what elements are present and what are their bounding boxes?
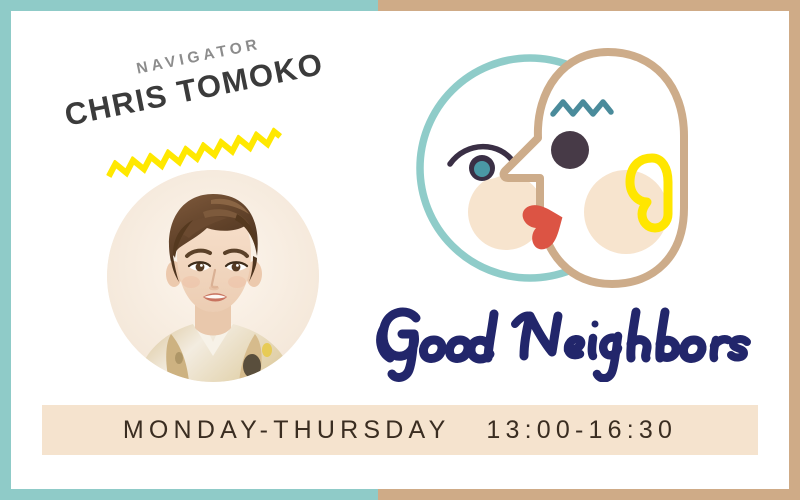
two-faces-logo xyxy=(412,32,708,304)
round-eye xyxy=(551,131,589,169)
schedule-band: MONDAY-THURSDAY 13:00-16:30 xyxy=(42,405,758,455)
portrait-illustration xyxy=(107,170,319,382)
radio-program-card: NAVIGATOR CHRIS TOMOKO xyxy=(0,0,800,500)
navigator-block: NAVIGATOR CHRIS TOMOKO xyxy=(42,50,342,170)
schedule-text: MONDAY-THURSDAY 13:00-16:30 xyxy=(123,416,677,445)
logo-wordmark xyxy=(372,296,752,382)
navigator-text-group: NAVIGATOR CHRIS TOMOKO xyxy=(39,21,344,137)
navigator-portrait-photo xyxy=(107,170,319,382)
